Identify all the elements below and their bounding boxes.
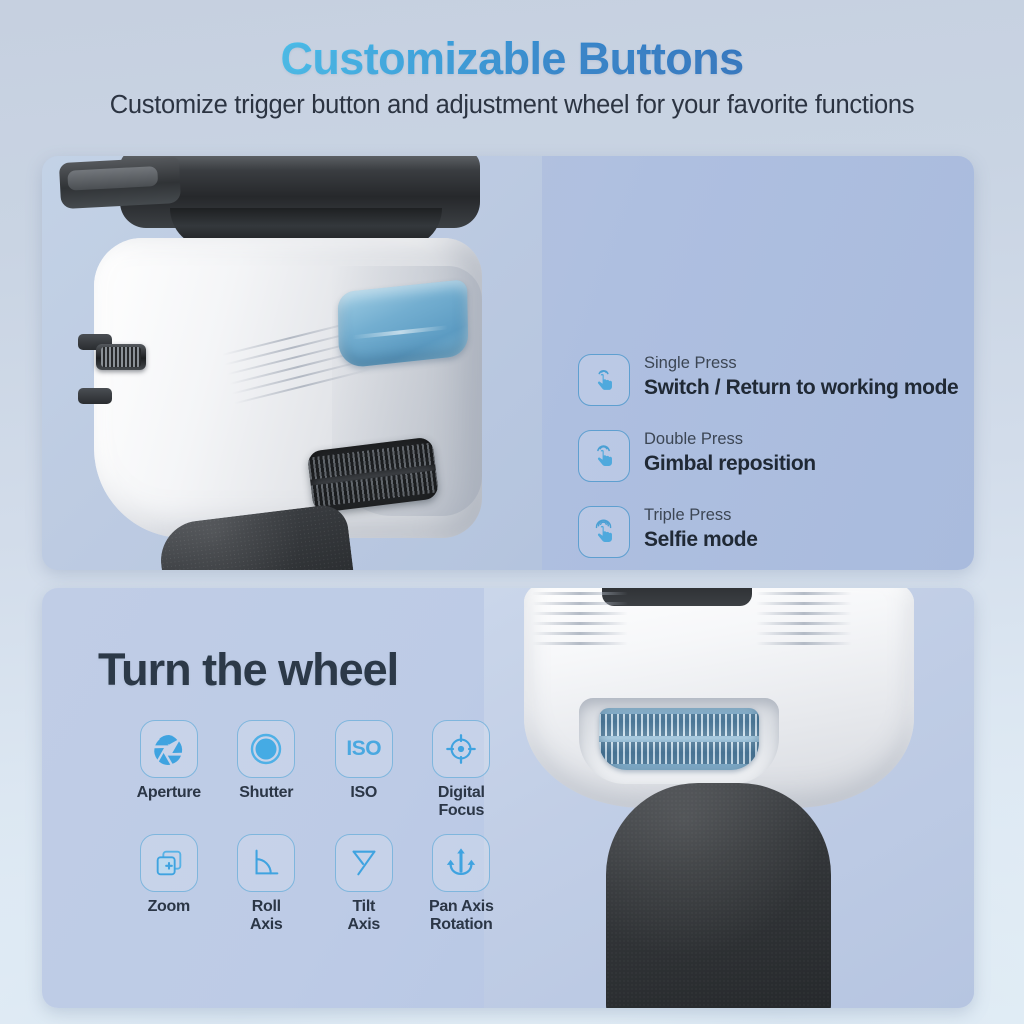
grid-label: Pan Axis Rotation [413,898,511,934]
feature-row: Triple Press Selfie mode [578,504,974,558]
gimbal-side-button-lower [78,388,112,404]
grid-item-roll-axis: Roll Axis [218,834,316,934]
double-tap-icon [578,430,630,482]
grid-label: Roll Axis [218,898,316,934]
gimbal-front-view-photo [484,588,974,1008]
grid-item-digital-focus: Digital Focus [413,720,511,820]
triple-tap-icon [578,506,630,558]
gimbal-phone-clamp [59,157,181,209]
grid-item-pan-axis-rotation: Pan Axis Rotation [413,834,511,934]
grid-label: Digital Focus [413,784,511,820]
wheel-function-grid: Aperture Shutter ISO ISO [120,720,510,934]
gimbal-side-wheel [96,344,146,370]
gimbal-right-vent-lines [756,592,852,664]
shutter-icon [237,720,295,778]
iso-icon: ISO [335,720,393,778]
gimbal-foam-grip-front [606,783,831,1008]
page-header: Customizable Buttons Customize trigger b… [0,0,1024,132]
customizable-buttons-panel: Single Press Switch / Return to working … [42,156,974,570]
grid-label: ISO [315,784,413,802]
page-title: Customizable Buttons [280,33,743,85]
grid-item-tilt-axis: Tilt Axis [315,834,413,934]
feature-press-type: Single Press [644,354,958,373]
grid-label: Shutter [218,784,316,802]
aperture-icon [140,720,198,778]
feature-row: Double Press Gimbal reposition [578,428,974,482]
zoom-icon [140,834,198,892]
gimbal-trigger-button [338,279,469,369]
button-function-list: Single Press Switch / Return to working … [578,352,974,570]
feature-row: Single Press Switch / Return to working … [578,352,974,406]
roll-axis-icon [237,834,295,892]
gimbal-side-view-photo [42,156,542,570]
grid-label: Aperture [120,784,218,802]
wheel-panel-heading: Turn the wheel [98,644,398,696]
feature-action: Selfie mode [644,527,757,552]
tilt-axis-icon [335,834,393,892]
grid-item-shutter: Shutter [218,720,316,820]
grid-label: Zoom [120,898,218,916]
digital-focus-icon [432,720,490,778]
page-subtitle: Customize trigger button and adjustment … [0,91,1024,120]
pan-axis-rotation-icon [432,834,490,892]
single-tap-icon [578,354,630,406]
feature-action: Gimbal reposition [644,451,816,476]
grid-item-zoom: Zoom [120,834,218,934]
gimbal-wheel-recess [579,698,779,784]
feature-press-type: Triple Press [644,506,757,525]
grid-item-aperture: Aperture [120,720,218,820]
gimbal-left-vent-lines [532,592,628,664]
grid-item-iso: ISO ISO [315,720,413,820]
grid-label: Tilt Axis [315,898,413,934]
turn-the-wheel-panel: Turn the wheel Aperture [42,588,974,1008]
iso-icon-text: ISO [346,737,381,761]
feature-press-type: Double Press [644,430,816,449]
gimbal-adjustment-wheel-front [599,708,759,770]
feature-action: Switch / Return to working mode [644,375,958,400]
